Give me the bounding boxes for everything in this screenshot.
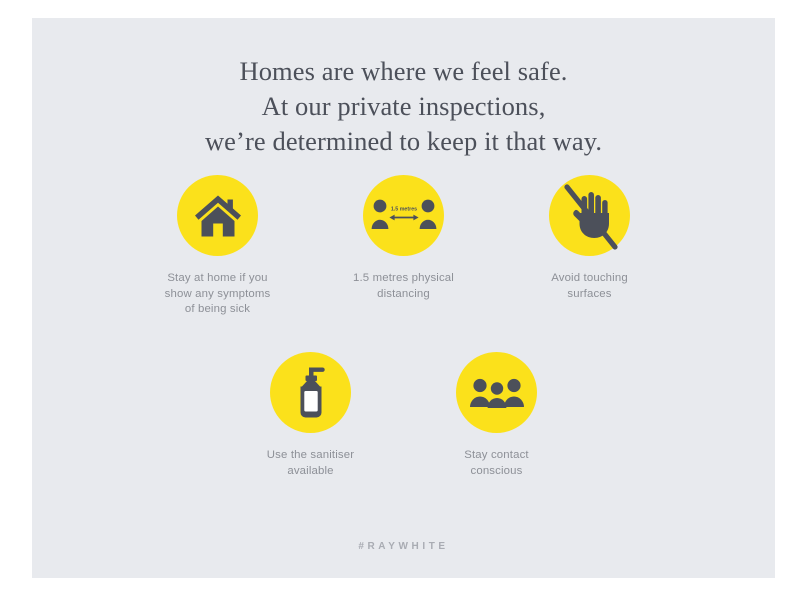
tip-icon-badge bbox=[177, 175, 258, 256]
tip-icon-badge: 1.5 metres bbox=[363, 175, 444, 256]
social-distancing-icon: 1.5 metres bbox=[371, 196, 437, 236]
no-touching-hand-icon bbox=[551, 177, 629, 255]
tips-row-bottom: Use the sanitiser available bbox=[32, 352, 775, 479]
tip-stay-at-home: Stay at home if you show any symptoms of… bbox=[125, 175, 311, 318]
tip-icon-badge bbox=[456, 352, 537, 433]
distance-label: 1.5 metres bbox=[390, 206, 416, 212]
tip-use-sanitiser: Use the sanitiser available bbox=[218, 352, 404, 479]
tip-caption: Stay contact conscious bbox=[464, 448, 528, 479]
tip-stay-contact-conscious: Stay contact conscious bbox=[404, 352, 590, 479]
tips-row-top: Stay at home if you show any symptoms of… bbox=[32, 175, 775, 318]
headline-line-1: Homes are where we feel safe. bbox=[32, 54, 775, 89]
group-of-people-icon bbox=[468, 375, 526, 411]
tip-physical-distancing: 1.5 metres 1.5 metres physical distancin… bbox=[311, 175, 497, 318]
tip-caption: 1.5 metres physical distancing bbox=[353, 271, 454, 302]
tip-icon-badge bbox=[549, 175, 630, 256]
tip-icon-badge bbox=[270, 352, 351, 433]
poster-panel: Homes are where we feel safe. At our pri… bbox=[32, 18, 775, 578]
headline-line-3: we’re determined to keep it that way. bbox=[32, 124, 775, 159]
sanitiser-bottle-icon bbox=[290, 365, 332, 421]
house-icon bbox=[193, 193, 243, 239]
tip-caption: Avoid touching surfaces bbox=[551, 271, 628, 302]
tip-avoid-touching: Avoid touching surfaces bbox=[497, 175, 683, 318]
tip-caption: Stay at home if you show any symptoms of… bbox=[165, 271, 271, 318]
tip-caption: Use the sanitiser available bbox=[267, 448, 354, 479]
page-title: Homes are where we feel safe. At our pri… bbox=[32, 54, 775, 159]
headline-line-2: At our private inspections, bbox=[32, 89, 775, 124]
brand-hashtag: #RAYWHITE bbox=[32, 541, 775, 552]
